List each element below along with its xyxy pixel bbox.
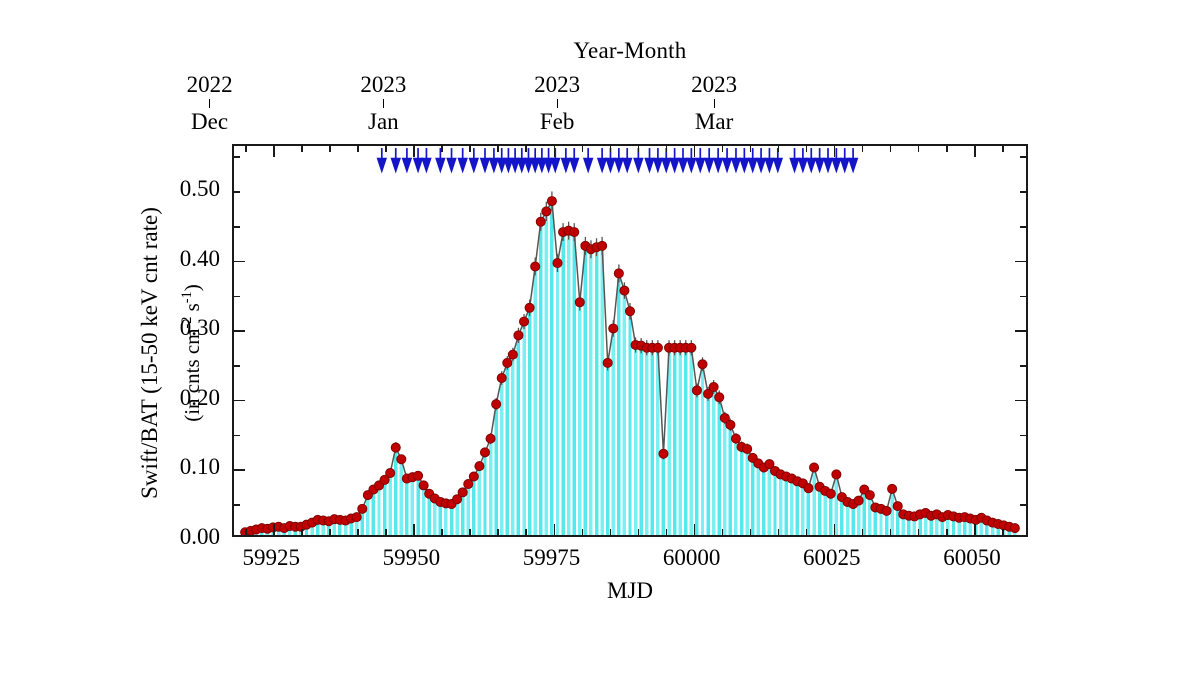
tick-mark [234,296,240,298]
top-tick-year: 2022 [150,72,270,98]
tick-mark [234,330,245,332]
observation-arrow-markers [377,148,859,173]
arrow-head [722,158,732,174]
tick-mark [918,146,920,152]
tick-mark [1020,296,1026,298]
arrow-head [798,158,808,174]
tick-mark [413,524,415,535]
tick-mark [1002,529,1004,535]
top-tick-month: Jan [323,109,443,135]
tick-mark [441,529,443,535]
data-point [503,358,512,367]
y-axis-exponent-2: -1 [179,291,195,303]
tick-mark [862,146,864,152]
tick-mark [301,146,303,152]
data-point [888,484,897,493]
tick-mark [525,529,527,535]
top-tick-mark [714,99,715,108]
tick-mark [638,529,640,535]
arrow-head [731,158,741,174]
tick-mark [234,365,240,367]
tick-mark [890,146,892,152]
tick-mark [554,146,556,157]
arrow-head [686,158,696,174]
tick-mark [234,504,240,506]
arrow-head [653,158,663,174]
data-point [715,393,724,402]
data-point [469,472,478,481]
tick-mark [974,524,976,535]
data-point [882,506,891,515]
data-point [865,491,874,500]
tick-mark [234,469,245,471]
plot-canvas [234,146,1026,535]
tick-mark [1002,146,1004,152]
data-point [352,513,361,522]
arrow-head [435,158,445,174]
y-ticklabel: 0.00 [110,524,220,550]
tick-mark [385,146,387,152]
tick-mark [666,529,668,535]
data-point [653,343,662,352]
arrow-head [678,158,688,174]
tick-mark [946,529,948,535]
tick-mark [525,146,527,152]
arrow-head [789,158,799,174]
data-point [397,455,406,464]
tick-mark [1015,261,1026,263]
tick-mark [722,529,724,535]
tick-mark [834,146,836,157]
arrow-head [605,158,615,174]
arrow-head [377,158,387,174]
x-ticklabel: 59950 [351,545,471,571]
tick-mark [234,191,240,193]
tick-mark [234,261,245,263]
arrow-head [773,158,783,174]
arrow-head [446,158,456,174]
tick-mark [234,156,240,158]
data-point [698,360,707,369]
data-point [386,468,395,477]
arrow-head [583,158,593,174]
data-point [625,307,634,316]
tick-mark [1020,504,1026,506]
arrow-head [713,158,723,174]
top-tick-feb: 2023Feb [497,72,617,135]
tick-mark [694,146,696,157]
arrow-head [764,158,774,174]
data-point [692,386,701,395]
arrow-head [661,158,671,174]
data-point [570,228,579,237]
tick-mark [441,146,443,152]
x-ticklabel: 60025 [772,545,892,571]
arrow-head [704,158,714,174]
data-point [598,241,607,250]
tick-mark [357,146,359,152]
data-point [497,373,506,382]
data-point [731,434,740,443]
tick-mark [385,529,387,535]
top-tick-mark [557,99,558,108]
top-tick-mar: 2023Mar [654,72,774,135]
arrow-head [823,158,833,174]
tick-mark [1020,226,1026,228]
tick-mark [610,146,612,152]
tick-mark [582,146,584,152]
data-point [542,207,551,216]
data-point [614,269,623,278]
data-point [893,502,902,511]
data-point [609,324,618,333]
arrow-head [848,158,858,174]
tick-mark [778,146,780,152]
tick-mark [1020,156,1026,158]
top-tick-mark [209,99,210,108]
tick-mark [469,146,471,152]
arrow-head [561,158,571,174]
arrow-head [756,158,766,174]
tick-mark [834,524,836,535]
arrow-head [597,158,607,174]
data-point [659,449,668,458]
data-point [603,358,612,367]
x-axis-title: MJD [232,578,1028,604]
data-point [553,258,562,267]
arrow-head [840,158,850,174]
top-tick-year: 2023 [497,72,617,98]
data-point [531,262,540,271]
tick-mark [469,529,471,535]
arrow-head [421,158,431,174]
arrow-head [391,158,401,174]
top-axis-title: Year-Month [0,38,1200,64]
data-point [575,298,584,307]
data-point [832,470,841,479]
tick-mark [638,146,640,152]
top-tick-jan: 2023Jan [323,72,443,135]
data-point [419,481,428,490]
data-point [508,350,517,359]
top-tick-year: 2023 [323,72,443,98]
tick-mark [750,529,752,535]
tick-mark [245,146,247,152]
data-point [519,317,528,326]
top-tick-year: 2023 [654,72,774,98]
top-tick-dec: 2022Dec [150,72,270,135]
tick-mark [806,146,808,152]
x-ticklabel: 59925 [211,545,331,571]
tick-mark [234,435,240,437]
y-ticklabel: 0.50 [110,176,220,202]
tick-mark [1015,469,1026,471]
arrow-head [480,158,490,174]
arrow-head [669,158,679,174]
data-point [391,443,400,452]
data-point [458,488,467,497]
tick-mark [946,146,948,152]
top-tick-month: Dec [150,109,270,135]
tick-mark [862,529,864,535]
tick-mark [234,400,245,402]
tick-mark [273,146,275,157]
tick-mark [497,146,499,152]
tick-mark [666,146,668,152]
arrow-head [644,158,654,174]
arrow-head [831,158,841,174]
cyan-fill-bars [243,201,1016,535]
tick-mark [329,529,331,535]
data-point [486,434,495,443]
tick-mark [806,529,808,535]
data-point [1010,524,1019,533]
data-point [514,331,523,340]
data-point [525,303,534,312]
tick-mark [722,146,724,152]
tick-mark [357,529,359,535]
y-axis-title-line1: Swift/BAT (15-50 keV cnt rate) [137,143,163,563]
tick-mark [329,146,331,152]
tick-mark [974,146,976,157]
arrow-head [569,158,579,174]
tick-mark [694,524,696,535]
data-point [854,496,863,505]
arrow-head [550,158,560,174]
data-point [743,444,752,453]
tick-mark [1020,435,1026,437]
tick-mark [918,529,920,535]
x-ticklabel: 60000 [632,545,752,571]
tick-mark [273,524,275,535]
data-point [804,484,813,493]
arrow-head [413,158,423,174]
top-tick-month: Mar [654,109,774,135]
data-point [475,462,484,471]
tick-mark [1015,330,1026,332]
data-point [492,400,501,409]
data-point [726,420,735,429]
data-point [480,448,489,457]
arrow-head [814,158,824,174]
arrow-head [622,158,632,174]
tick-mark [554,524,556,535]
data-point [536,217,545,226]
plot-area [232,144,1028,537]
tick-mark [750,146,752,152]
data-point [687,343,696,352]
tick-mark [245,529,247,535]
arrow-head [614,158,624,174]
tick-mark [497,529,499,535]
arrow-head [747,158,757,174]
data-point [620,286,629,295]
arrow-head [633,158,643,174]
tick-mark [234,226,240,228]
x-ticklabel: 60050 [912,545,1032,571]
arrow-head [806,158,816,174]
tick-mark [413,146,415,157]
arrow-head [695,158,705,174]
data-point [358,504,367,513]
top-axis-title-text: Year-Month [574,38,687,64]
arrow-head [457,158,467,174]
top-tick-month: Feb [497,109,617,135]
arrow-head [402,158,412,174]
figure-swift-bat-lightcurve: Year-Month 2022Dec2023Jan2023Feb2023Mar … [0,0,1200,675]
y-ticklabel: 0.30 [110,315,220,341]
data-point [709,382,718,391]
tick-mark [610,529,612,535]
y-ticklabel: 0.10 [110,454,220,480]
tick-mark [890,529,892,535]
top-tick-mark [383,99,384,108]
data-point [809,463,818,472]
arrow-head [469,158,479,174]
y-ticklabel: 0.20 [110,385,220,411]
data-point [826,489,835,498]
tick-mark [1020,191,1026,193]
tick-mark [1020,365,1026,367]
y-axis-title-line2-suffix: ) [180,284,204,291]
data-point [547,197,556,206]
tick-mark [582,529,584,535]
y-axis-title-line2: (in cnts cm-2 s-1) [179,143,205,563]
arrow-head [739,158,749,174]
x-ticklabel: 59975 [492,545,612,571]
tick-mark [301,529,303,535]
data-point [413,471,422,480]
tick-mark [1015,400,1026,402]
y-ticklabel: 0.40 [110,246,220,272]
tick-mark [778,529,780,535]
